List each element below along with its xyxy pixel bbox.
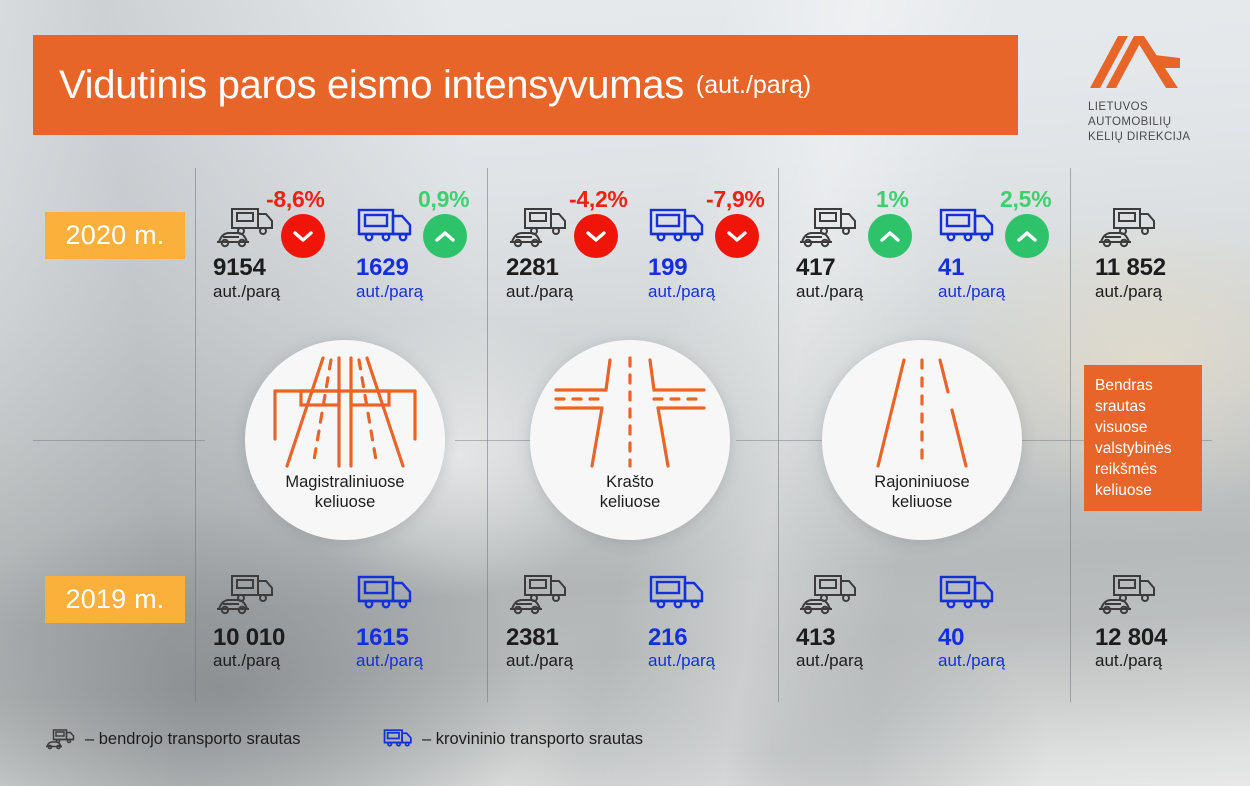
category-label-line1: Rajoniniuose (874, 472, 969, 492)
title-banner: Vidutinis paros eismo intensyvumas (aut.… (33, 35, 1018, 135)
truck-icon (938, 573, 1000, 617)
column-divider-2 (487, 168, 488, 702)
column-divider-4 (1070, 168, 1071, 702)
summary-note: Bendras srautas visuose valstybinės reik… (1084, 365, 1202, 511)
pct-2020-magistraliniai-freight: 0,9% (418, 186, 469, 213)
pct-2020-rajoniniai-freight: 2,5% (1000, 186, 1051, 213)
category-label-magistraliniai: Magistraliniuose keliuose (285, 472, 404, 512)
truck-icon (356, 573, 418, 617)
unit-2019-magistraliniai-total: aut./parą (213, 651, 280, 671)
unit-2020-rajoniniai-freight: aut./parą (938, 282, 1005, 302)
column-divider-1 (195, 168, 196, 702)
brand-line-2: AUTOMOBILIŲ (1088, 115, 1228, 130)
unit-2020-magistraliniai-total: aut./parą (213, 282, 280, 302)
category-label-line2: keliuose (600, 492, 661, 512)
legend-item-total: – bendrojo transporto srautas (44, 726, 301, 752)
car-truck-icon (1095, 568, 1163, 620)
value-2019-krasto-total: 2381 (506, 624, 559, 652)
category-label-line2: keliuose (285, 492, 404, 512)
crossroads-icon (546, 356, 714, 468)
car-truck-icon (44, 726, 78, 752)
car-truck-icon (506, 568, 574, 620)
year-badge-2019: 2019 m. (45, 576, 185, 623)
truck-icon (648, 206, 710, 250)
value-2020-magistraliniai-freight: 1629 (356, 254, 409, 282)
value-2019-rajoniniai-freight: 40 (938, 624, 964, 652)
category-label-krasto: Krašto keliuose (600, 472, 661, 512)
value-2019-summary-total: 12 804 (1095, 624, 1167, 652)
category-circle-krasto: Krašto keliuose (530, 340, 730, 540)
arrow-down-icon-2020-krasto-freight (715, 214, 759, 258)
legend-label-freight: – krovininio transporto srautas (422, 730, 643, 749)
value-2020-krasto-total: 2281 (506, 254, 559, 282)
brand-text: LIETUVOS AUTOMOBILIŲ KELIŲ DIREKCIJA (1088, 100, 1228, 145)
brand-block: LIETUVOS AUTOMOBILIŲ KELIŲ DIREKCIJA (1088, 32, 1228, 145)
category-label-line1: Krašto (600, 472, 661, 492)
lakd-logo-icon (1088, 32, 1180, 92)
page-title: Vidutinis paros eismo intensyvumas (59, 63, 684, 108)
category-circle-magistraliniai: Magistraliniuose keliuose (245, 340, 445, 540)
arrow-down-icon-2020-magistraliniai-total (281, 214, 325, 258)
car-truck-icon (506, 201, 574, 253)
car-truck-icon (213, 201, 281, 253)
unit-2020-krasto-freight: aut./parą (648, 282, 715, 302)
unit-2020-rajoniniai-total: aut./parą (796, 282, 863, 302)
truck-icon (938, 206, 1000, 250)
row-divider-left (33, 440, 205, 441)
truck-icon (383, 728, 415, 751)
legend-item-freight: – krovininio transporto srautas (383, 728, 643, 751)
truck-icon (356, 206, 418, 250)
pct-2020-rajoniniai-total: 1% (876, 186, 909, 213)
car-truck-icon (796, 201, 864, 253)
arrow-up-icon-2020-rajoniniai-freight (1005, 214, 1049, 258)
infographic-canvas: Vidutinis paros eismo intensyvumas (aut.… (0, 0, 1250, 786)
category-label-line2: keliuose (874, 492, 969, 512)
value-2019-rajoniniai-total: 413 (796, 624, 835, 652)
brand-line-3: KELIŲ DIREKCIJA (1088, 130, 1228, 145)
page-subtitle: (aut./parą) (696, 71, 811, 100)
row-divider-mid-1 (455, 440, 533, 441)
brand-line-1: LIETUVOS (1088, 100, 1228, 115)
value-2020-krasto-freight: 199 (648, 254, 687, 282)
pct-2020-krasto-total: -4,2% (569, 186, 628, 213)
column-divider-3 (778, 168, 779, 702)
unit-2020-summary-total: aut./parą (1095, 282, 1162, 302)
car-truck-icon (1095, 201, 1163, 253)
unit-2020-magistraliniai-freight: aut./parą (356, 282, 423, 302)
unit-2020-krasto-total: aut./parą (506, 282, 573, 302)
value-2019-magistraliniai-freight: 1615 (356, 624, 409, 652)
pct-2020-krasto-freight: -7,9% (706, 186, 765, 213)
arrow-up-icon-2020-rajoniniai-total (868, 214, 912, 258)
unit-2019-krasto-total: aut./parą (506, 651, 573, 671)
arrow-up-icon-2020-magistraliniai-freight (423, 214, 467, 258)
category-label-line1: Magistraliniuose (285, 472, 404, 492)
value-2020-rajoniniai-freight: 41 (938, 254, 964, 282)
value-2020-summary-total: 11 852 (1095, 254, 1166, 282)
arrow-down-icon-2020-krasto-total (574, 214, 618, 258)
car-truck-icon (796, 568, 864, 620)
value-2020-magistraliniai-total: 9154 (213, 254, 266, 282)
category-label-rajoniniai: Rajoniniuose keliuose (874, 472, 969, 512)
value-2019-krasto-freight: 216 (648, 624, 687, 652)
year-badge-2020: 2020 m. (45, 212, 185, 259)
legend-label-total: – bendrojo transporto srautas (85, 730, 301, 749)
row-divider-mid-2 (736, 440, 824, 441)
unit-2019-krasto-freight: aut./parą (648, 651, 715, 671)
value-2020-rajoniniai-total: 417 (796, 254, 835, 282)
value-2019-magistraliniai-total: 10 010 (213, 624, 285, 652)
unit-2019-rajoniniai-total: aut./parą (796, 651, 863, 671)
highway-overpass-icon (261, 356, 429, 468)
category-circle-rajoniniai: Rajoniniuose keliuose (822, 340, 1022, 540)
country-road-icon (838, 356, 1006, 468)
car-truck-icon (213, 568, 281, 620)
unit-2019-summary-total: aut./parą (1095, 651, 1162, 671)
unit-2019-rajoniniai-freight: aut./parą (938, 651, 1005, 671)
truck-icon (648, 573, 710, 617)
unit-2019-magistraliniai-freight: aut./parą (356, 651, 423, 671)
